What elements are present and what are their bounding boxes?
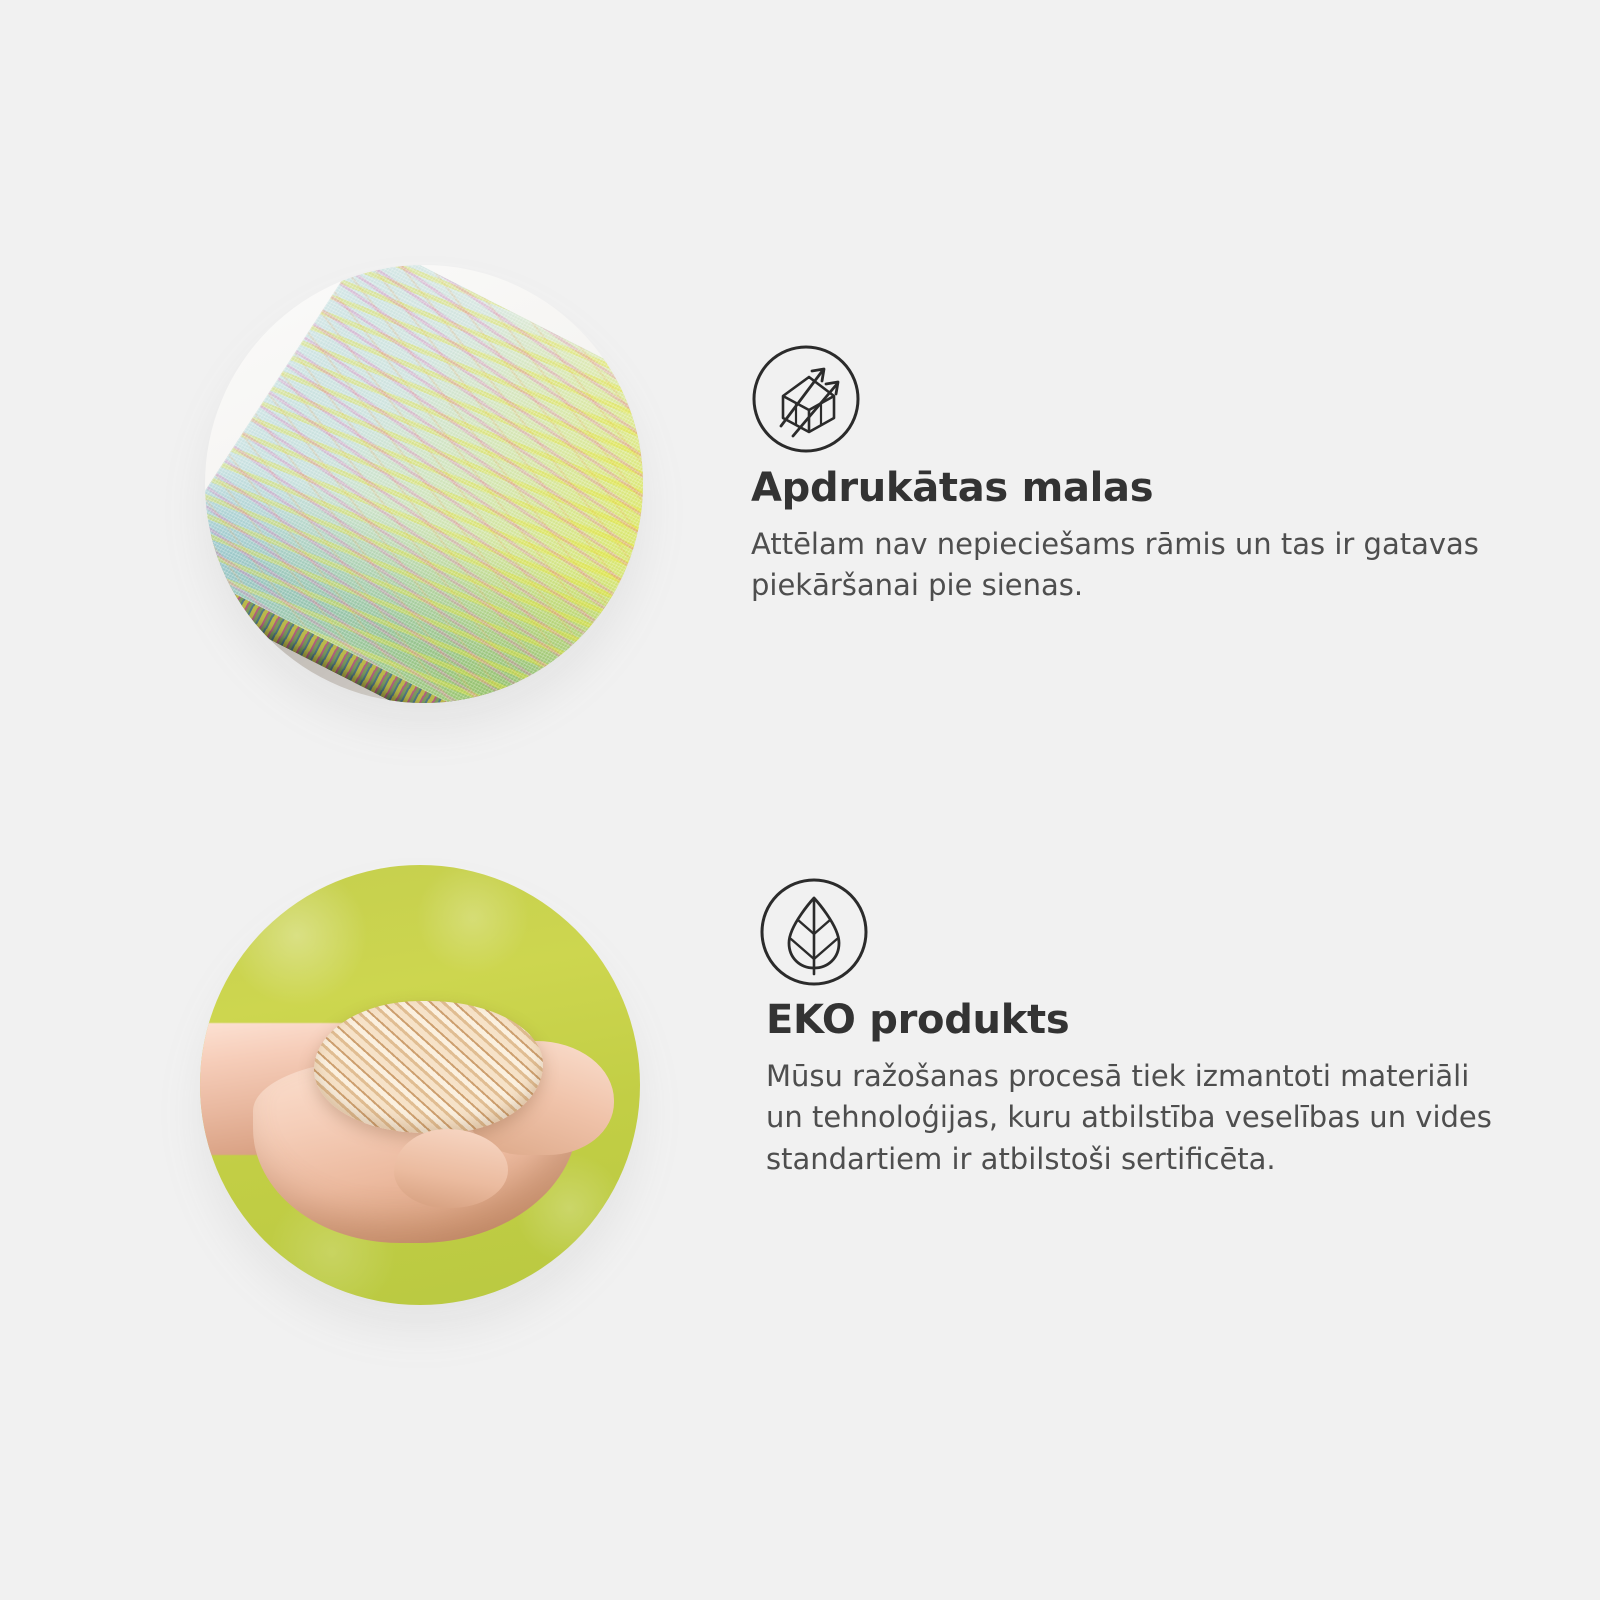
canvas-photo-backdrop	[205, 265, 643, 703]
feature-printed-edges-title: Apdrukātas malas	[751, 466, 1491, 510]
feature-eko-product-text: EKO produkts Mūsu ražošanas procesā tiek…	[766, 998, 1506, 1180]
canvas-corner-photo	[205, 265, 643, 703]
feature-printed-edges-description: Attēlam nav nepieciešams rāmis un tas ir…	[751, 524, 1481, 607]
leaf-icon	[759, 877, 869, 987]
feature-printed-edges-text: Apdrukātas malas Attēlam nav nepieciešam…	[751, 466, 1491, 607]
thumb	[394, 1129, 508, 1208]
wood-chips	[314, 1001, 543, 1133]
product-features-page: Apdrukātas malas Attēlam nav nepieciešam…	[0, 0, 1600, 1600]
wrapped-canvas-edges-icon	[751, 344, 861, 454]
feature-printed-edges: Apdrukātas malas Attēlam nav nepieciešam…	[0, 0, 1600, 800]
eco-photo-background	[200, 865, 640, 1305]
feature-eko-product-title: EKO produkts	[766, 998, 1506, 1042]
feature-eko-product: EKO produkts Mūsu ražošanas procesā tiek…	[0, 800, 1600, 1600]
feature-eko-product-description: Mūsu ražošanas procesā tiek izmantoti ma…	[766, 1056, 1496, 1180]
hands-holding-wood-chips-photo	[200, 865, 640, 1305]
